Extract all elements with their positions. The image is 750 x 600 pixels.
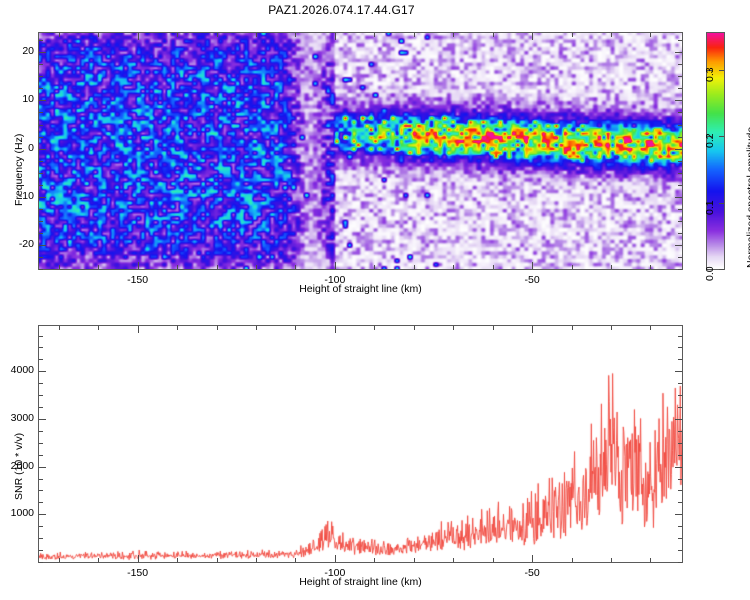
y-tick-label: 10 [0, 93, 34, 105]
colorbar-tick-label: 0.1 [704, 200, 716, 215]
y-tick-label: 3000 [0, 412, 34, 424]
figure-root: PAZ1.2026.074.17.44.G17 -150-100-50-20-1… [0, 0, 750, 600]
colorbar-title: Normalized spectral amplitude [745, 127, 750, 268]
y-tick-label: 20 [0, 45, 34, 57]
y-tick-label: 4000 [0, 364, 34, 376]
figure-title: PAZ1.2026.074.17.44.G17 [0, 3, 683, 17]
y-tick-label: -20 [0, 238, 34, 250]
spectrogram-y-axis-title: Frequency (Hz) [13, 134, 25, 206]
snr-plot-area[interactable] [38, 325, 683, 563]
snr-x-axis-title: Height of straight line (km) [38, 576, 683, 588]
spectrogram-plot-area[interactable] [38, 32, 683, 270]
y-tick-label: 1000 [0, 507, 34, 519]
spectrogram-image [39, 33, 682, 269]
colorbar-tick-label: 0.3 [704, 67, 716, 82]
spectrogram-x-axis-title: Height of straight line (km) [38, 283, 683, 295]
colorbar-tick-label: 0.2 [704, 133, 716, 148]
colorbar-tick-label: 0.0 [704, 266, 716, 281]
snr-line-series [39, 326, 682, 562]
snr-y-axis-title: SNR (10 * v/v) [13, 433, 25, 500]
